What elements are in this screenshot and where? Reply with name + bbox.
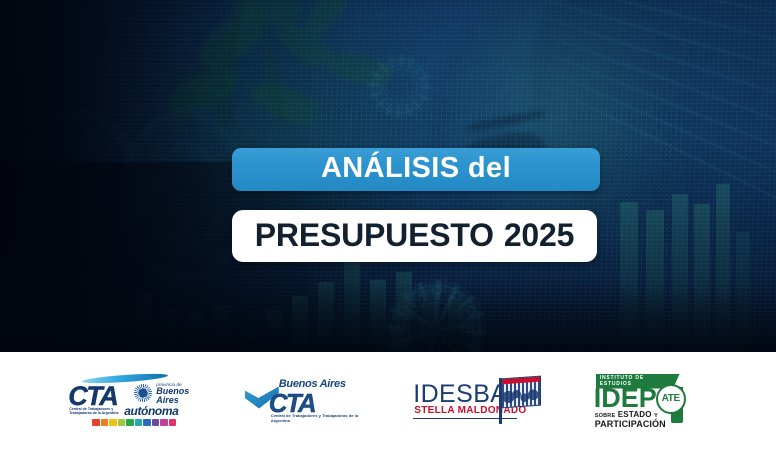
ate-badge-icon: ATE	[656, 384, 686, 414]
color-bar-icon	[92, 419, 176, 426]
logo-cta-autonoma-autonoma: autónoma	[124, 404, 178, 418]
crowd-people-icon	[503, 386, 539, 406]
title-plate-analisis: ANÁLISIS del	[232, 148, 600, 191]
banner-background: 1000 a quien y desde mi y pienso vivo y …	[0, 0, 776, 352]
logo-idesba[interactable]: IDESBA STELLA MALDONADO	[413, 376, 543, 426]
logo-idep-line-2: PARTICIPACIÓN	[595, 419, 666, 429]
poster-canvas: 1000 a quien y desde mi y pienso vivo y …	[0, 0, 776, 449]
ate-badge-label: ATE	[662, 393, 680, 404]
logo-cta-buenos-aires[interactable]: Buenos Aires CTA Central de Trabajadores…	[245, 377, 365, 425]
logo-idep-line-1: SOBRE ESTADO Y	[595, 410, 658, 419]
sun-of-may-icon	[134, 384, 152, 402]
logo-cta-autonoma-subtitle: Central de Trabajadores y Trabajadoras d…	[69, 407, 121, 416]
logo-cta-autonoma-province: provincia de Buenos Aires	[156, 383, 189, 406]
logo-cta-autonoma[interactable]: CTA provincia de Buenos Aires Central de…	[64, 373, 196, 429]
logo-cta-ba-subtitle: Central de Trabajadores y Trabajadoras d…	[271, 413, 365, 423]
title-year: 2025	[504, 219, 574, 253]
footer-logo-bar: CTA provincia de Buenos Aires Central de…	[0, 352, 776, 449]
title-line-2: PRESUPUESTO	[255, 219, 494, 253]
title-line-1: ANÁLISIS del	[321, 154, 511, 185]
logo-idep-estado: ESTADO	[618, 410, 652, 419]
title-plate-presupuesto: PRESUPUESTO 2025	[232, 210, 597, 262]
logo-idep[interactable]: INSTITUTO DE ESTUDIOS IDEP ATE SOBRE EST…	[592, 374, 712, 428]
